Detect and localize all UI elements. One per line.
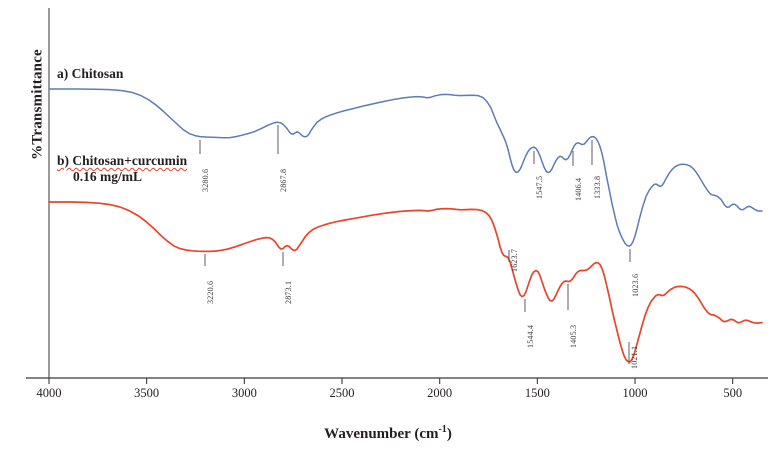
legend-label-b-line1: b) Chitosan+curcumin: [57, 153, 187, 168]
peak-label-b-1623: 1623.7: [510, 249, 519, 272]
peak-label-b-1021: 1021.1: [630, 346, 639, 369]
x-axis-label-main: Wavenumber (cm: [324, 426, 438, 442]
x-axis-tick-label-1000: 1000: [605, 386, 665, 401]
peak-label-a-1023: 1023.6: [631, 274, 640, 297]
peak-label-a-3280: 3280.6: [201, 169, 210, 192]
x-axis-tick-label-1500: 1500: [507, 386, 567, 401]
x-axis-label: Wavenumber (cm-1): [0, 424, 776, 443]
x-axis-label-close: ): [447, 426, 452, 442]
x-axis-tick-label-3500: 3500: [117, 386, 177, 401]
peak-label-b-1544: 1544.4: [526, 325, 535, 348]
x-axis-tick-label-2500: 2500: [312, 386, 372, 401]
peak-label-b-1405: 1405.3: [569, 325, 578, 348]
x-axis-tick-label-4000: 4000: [19, 386, 79, 401]
peak-label-a-1547: 1547.5: [535, 176, 544, 199]
x-axis-tick-label-500: 500: [703, 386, 763, 401]
peak-leader-lines: [200, 125, 630, 364]
x-axis-ticks: [49, 378, 733, 384]
peak-label-a-1333: 1333.8: [593, 176, 602, 199]
x-axis-tick-label-2000: 2000: [410, 386, 470, 401]
legend-label-chitosan-curcumin: b) Chitosan+curcumin 0.16 mg/mL: [57, 153, 187, 185]
peak-label-a-1406: 1406.4: [574, 178, 583, 201]
curve-chitosan-curcumin: [49, 202, 762, 362]
ftir-spectrum-figure: %Transmittance 3280.6 2867.8 1547.5: [0, 0, 776, 451]
legend-label-b-line2: 0.16 mg/mL: [57, 169, 187, 185]
x-axis-label-exponent: -1: [438, 424, 446, 435]
peak-label-b-2873: 2873.1: [284, 281, 293, 304]
peak-label-b-3220: 3220.6: [206, 281, 215, 304]
legend-label-chitosan: a) Chitosan: [57, 66, 123, 82]
x-axis-tick-label-3000: 3000: [214, 386, 274, 401]
peak-label-a-2867: 2867.8: [279, 169, 288, 192]
